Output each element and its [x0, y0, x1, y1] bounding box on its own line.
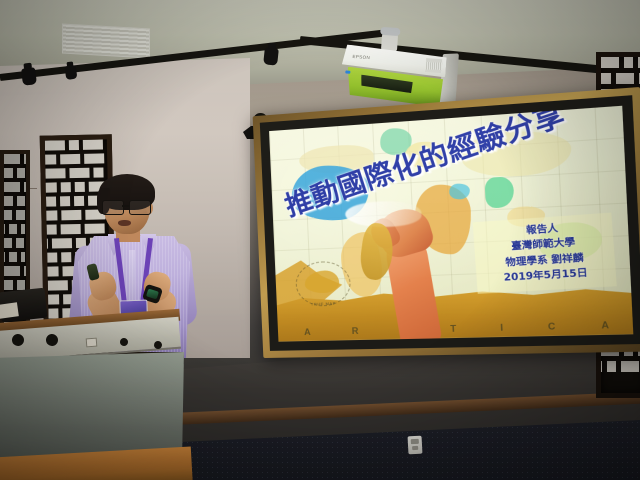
lattice-brick [607, 361, 616, 372]
lattice-brick [24, 182, 27, 192]
lattice-brick [52, 238, 72, 248]
lattice-brick [0, 196, 13, 206]
lattice-brick [40, 210, 58, 220]
lattice-brick [21, 224, 25, 234]
lattice-brick [40, 154, 57, 164]
lattice-brick [4, 182, 20, 192]
lattice-brick [601, 57, 619, 68]
lattice-brick [17, 196, 25, 206]
presenter-mouth [118, 220, 131, 226]
lattice-brick [4, 210, 12, 220]
wall-outlet-icon [408, 436, 423, 455]
lattice-brick [24, 154, 27, 164]
lattice-brick [17, 168, 25, 178]
map-letter: C [548, 321, 557, 332]
map-letter: A [601, 319, 610, 330]
lattice-brick [596, 73, 611, 84]
lattice-brick [16, 238, 24, 248]
glasses-bridge [122, 205, 129, 207]
lectern-body [0, 352, 184, 462]
glasses-lens-right [129, 200, 151, 215]
lattice-brick [4, 238, 12, 248]
lattice-brick [40, 266, 59, 276]
lattice-brick [83, 139, 103, 149]
projector-status-led [345, 70, 350, 73]
lattice-brick [40, 182, 57, 192]
lattice-brick [621, 361, 639, 372]
lattice-brick [45, 168, 65, 178]
spotlight-icon [263, 47, 279, 65]
lectern-button[interactable] [86, 338, 98, 348]
lectern [0, 300, 184, 460]
lattice-brick [47, 252, 57, 262]
lattice-brick [60, 154, 80, 164]
lattice-brick [4, 266, 20, 276]
spotlight-icon [21, 67, 37, 86]
lattice-brick [60, 196, 70, 206]
projector-brand-label: EPSON [352, 54, 370, 60]
logo-swirl-icon [304, 270, 339, 294]
glasses-icon [102, 200, 152, 213]
projector-vent-icon [426, 58, 443, 73]
lattice-brick [0, 224, 5, 234]
lattice-brick [17, 280, 25, 290]
glasses-lens-left [102, 200, 124, 215]
projected-slide: TRUE MAP A R C T I C A [269, 106, 634, 342]
presenter-info-box: 報告人 臺灣師範大學 物理學系 劉祥麟 2019年5月15日 [472, 212, 617, 293]
lattice-brick [69, 140, 79, 150]
lattice-brick [16, 210, 25, 220]
spotlight-icon [65, 65, 78, 80]
lattice-brick [45, 140, 65, 150]
lattice-brick [0, 252, 5, 262]
map-letter: T [450, 323, 457, 334]
lattice-brick [596, 361, 602, 372]
lattice-brick [47, 224, 57, 234]
whiteboard-frame: TRUE MAP A R C T I C A [253, 87, 640, 358]
lattice-brick [4, 154, 20, 164]
lattice-brick [624, 57, 633, 68]
lattice-brick [24, 266, 27, 276]
lattice-brick [61, 252, 71, 262]
lattice-brick [9, 252, 17, 262]
map-letter: I [500, 322, 504, 333]
map-letter: A [304, 326, 312, 336]
map-letter: R [351, 325, 359, 335]
ceiling-vent-icon [62, 24, 150, 59]
lattice-brick [61, 182, 71, 192]
lattice-brick [48, 280, 68, 290]
whiteboard-surface: TRUE MAP A R C T I C A [260, 95, 640, 351]
lattice-brick [0, 168, 13, 178]
projector-mount [381, 33, 398, 52]
lattice-brick [46, 196, 56, 206]
lattice-brick [84, 153, 104, 163]
lattice-brick [0, 280, 13, 290]
lecture-room-photo: EPSON [0, 0, 640, 480]
lattice-brick [616, 73, 634, 84]
lattice-brick [9, 224, 17, 234]
lattice-brick [21, 252, 25, 262]
